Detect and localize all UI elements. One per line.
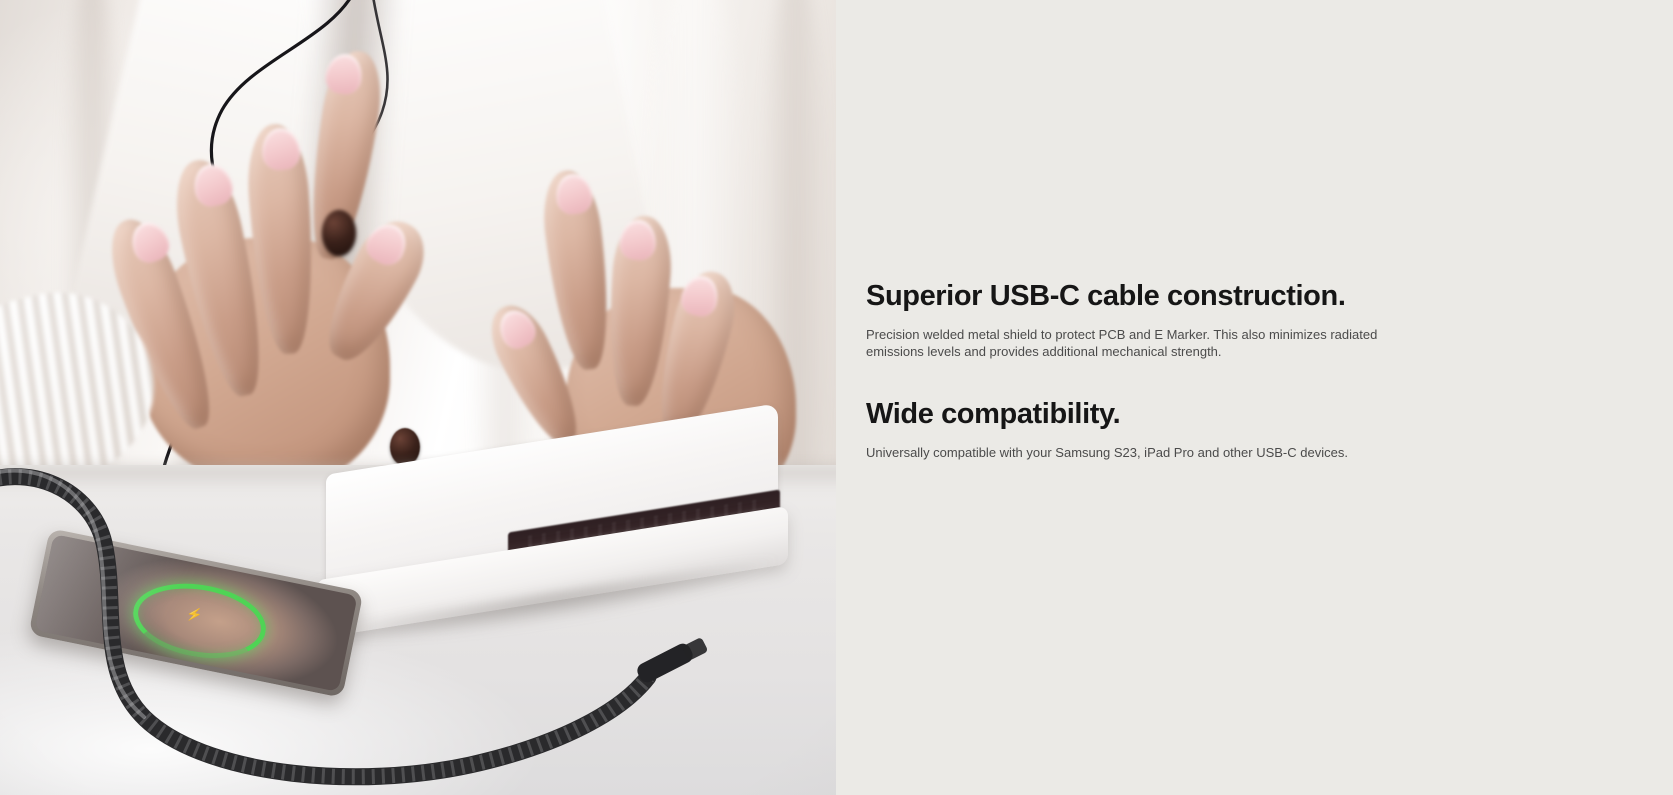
usb-c-connector: [635, 637, 709, 685]
feature-body-construction: Precision welded metal shield to protect…: [866, 326, 1394, 360]
feature-body-compatibility: Universally compatible with your Samsung…: [866, 444, 1394, 461]
feature-headline-compatibility: Wide compatibility.: [866, 396, 1466, 432]
feature-headline-construction: Superior USB-C cable construction.: [866, 278, 1466, 314]
photo-stage: ⚡: [0, 0, 836, 795]
feature-block-compatibility: Wide compatibility. Universally compatib…: [866, 396, 1466, 461]
usb-c-cable: [0, 465, 836, 795]
feature-copy-panel: Superior USB-C cable construction. Preci…: [836, 0, 1673, 795]
feature-block-construction: Superior USB-C cable construction. Preci…: [866, 278, 1466, 360]
product-lifestyle-photo: ⚡: [0, 0, 836, 795]
ring-accent: [322, 210, 356, 256]
product-feature-section: ⚡ Superior USB-C cable construction.: [0, 0, 1673, 795]
feature-copy-inner: Superior USB-C cable construction. Preci…: [866, 0, 1466, 795]
